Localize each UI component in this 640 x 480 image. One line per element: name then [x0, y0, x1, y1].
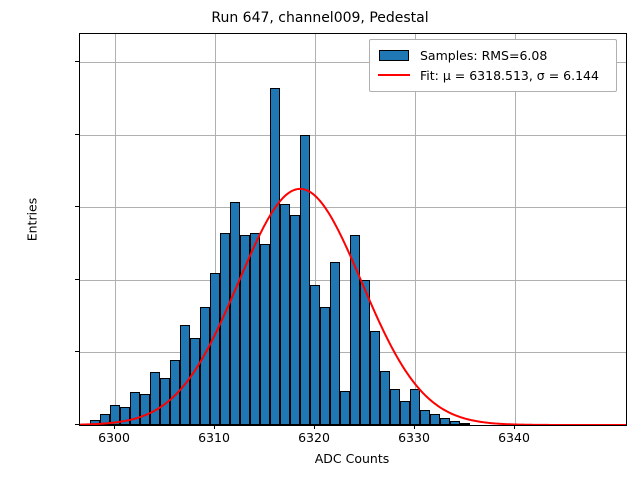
x-tick-label: 6320: [298, 430, 330, 445]
x-tick-label: 6310: [198, 430, 230, 445]
chart-figure: Run 647, channel009, Pedestal Entries AD…: [0, 0, 640, 480]
legend-label-fit: Fit: μ = 6318.513, σ = 6.144: [420, 68, 599, 83]
legend-item-samples: Samples: RMS=6.08: [376, 45, 610, 65]
x-tick-label: 6340: [498, 430, 530, 445]
x-axis-label: ADC Counts: [79, 451, 625, 466]
y-tick-mark: [75, 206, 79, 207]
y-tick-mark: [75, 351, 79, 352]
y-tick-mark: [75, 134, 79, 135]
x-tick-label: 6300: [98, 430, 130, 445]
legend-item-fit: Fit: μ = 6318.513, σ = 6.144: [376, 65, 610, 85]
x-tick-mark: [114, 425, 115, 429]
legend-label-samples: Samples: RMS=6.08: [420, 48, 547, 63]
fit-curve-path: [80, 189, 626, 425]
x-tick-label: 6330: [398, 430, 430, 445]
y-tick-mark: [75, 279, 79, 280]
x-tick-mark: [314, 425, 315, 429]
legend-line-icon: [376, 74, 412, 76]
x-tick-mark: [414, 425, 415, 429]
chart-title: Run 647, channel009, Pedestal: [0, 9, 640, 27]
x-tick-mark: [214, 425, 215, 429]
legend-swatch-icon: [376, 50, 412, 61]
plot-inner: [80, 34, 626, 425]
y-axis-label: Entries: [25, 160, 40, 280]
fit-curve: [80, 34, 626, 425]
y-tick-mark: [75, 61, 79, 62]
chart-legend: Samples: RMS=6.08 Fit: μ = 6318.513, σ =…: [369, 39, 617, 92]
x-tick-mark: [514, 425, 515, 429]
y-tick-mark: [75, 424, 79, 425]
